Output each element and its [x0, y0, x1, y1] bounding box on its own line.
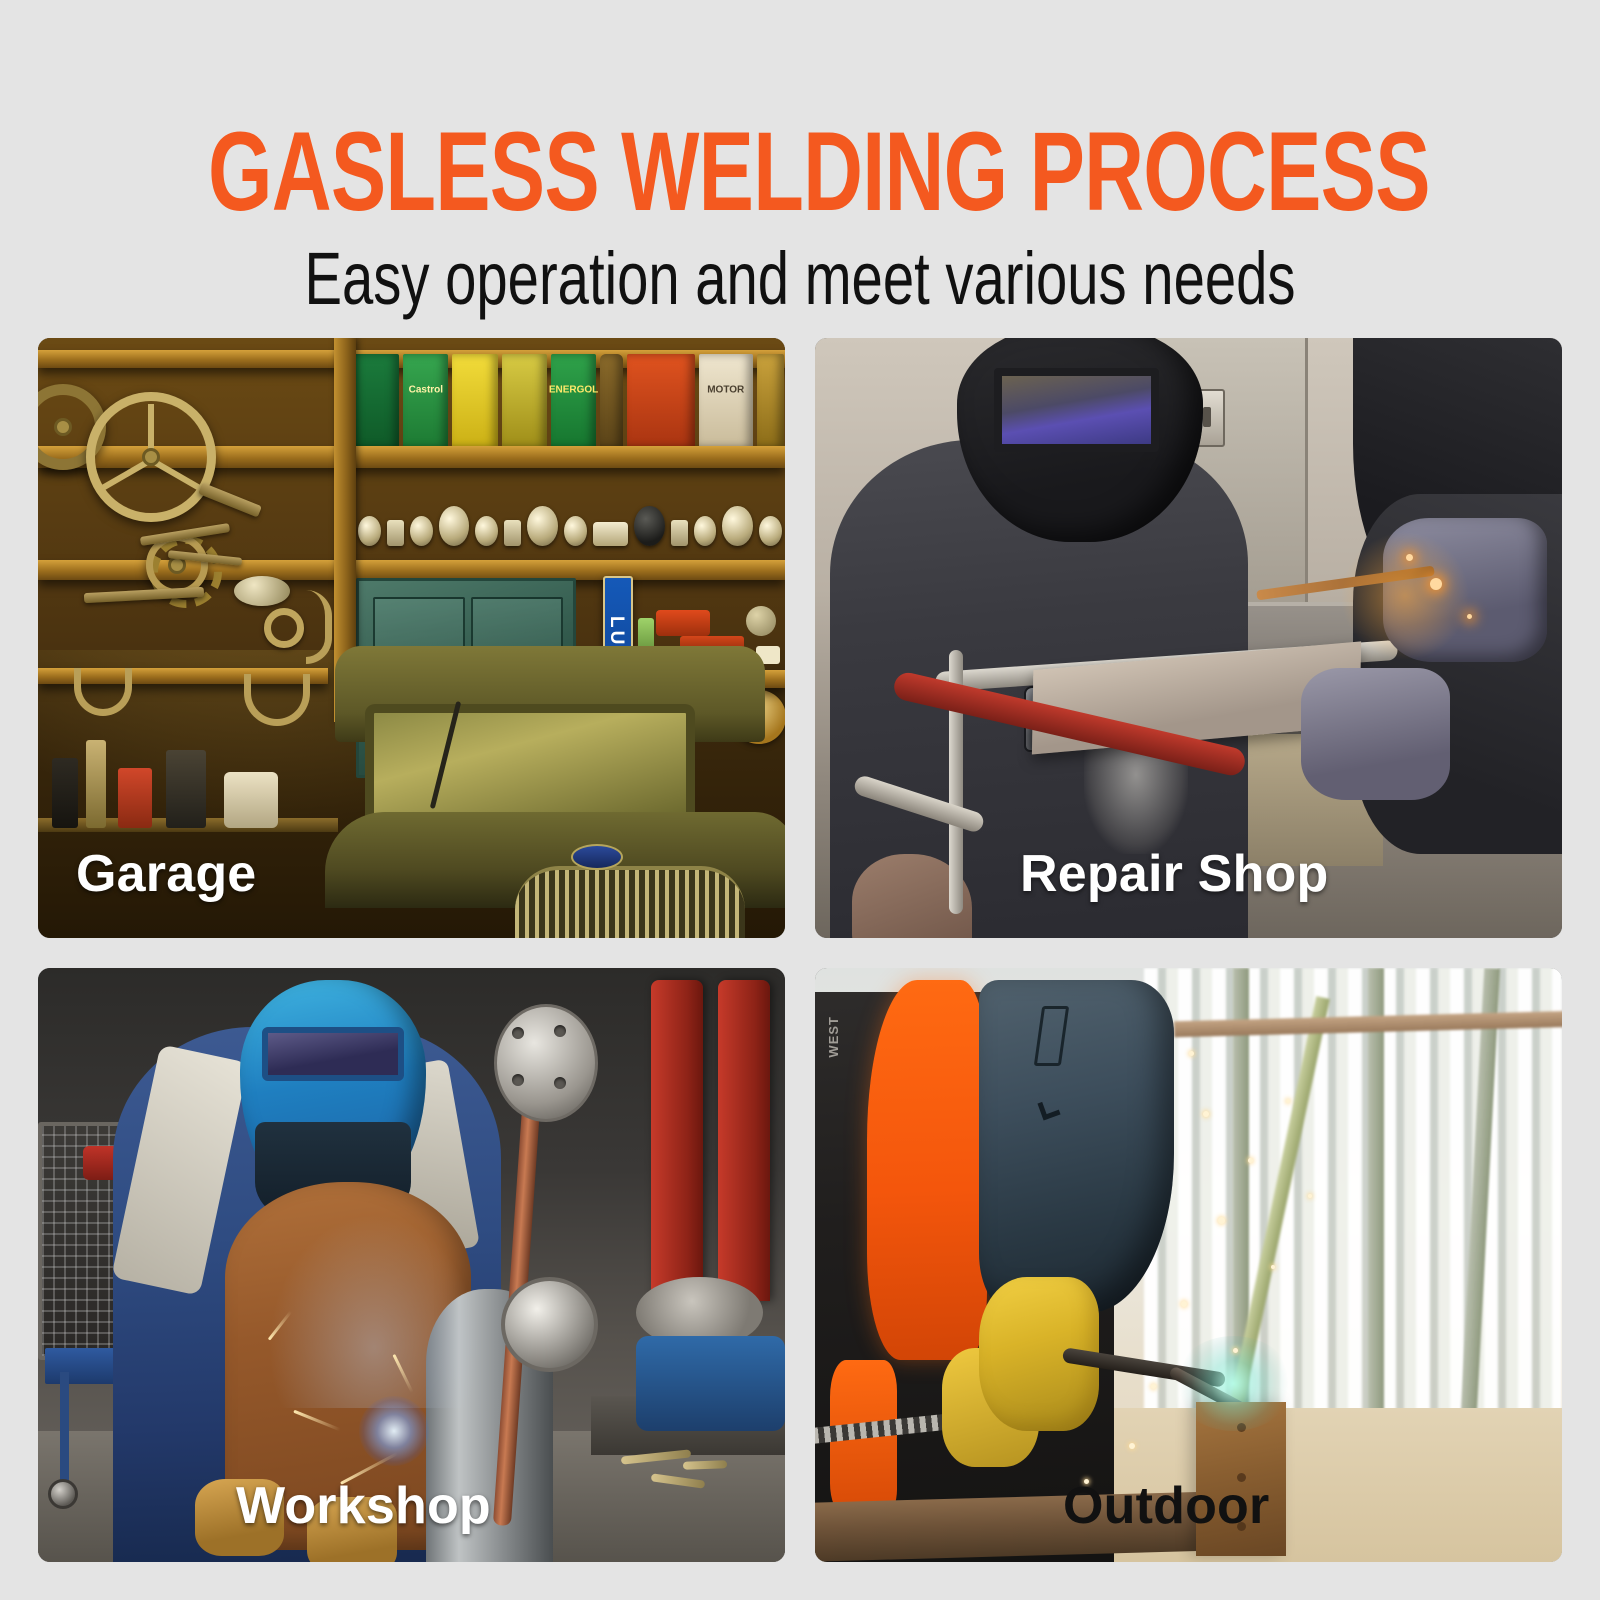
tool: [198, 482, 262, 517]
page-title: GASLESS WELDING PROCESS: [208, 118, 1392, 226]
oil-tin: [600, 354, 623, 448]
oil-tin: [354, 354, 399, 448]
spark: [1271, 1265, 1275, 1269]
helmet-visor: [262, 1027, 404, 1080]
oil-tin-row: Castrol ENERGOL MOTOR: [354, 354, 784, 448]
gauge: [439, 506, 470, 546]
clutter-item: [746, 606, 776, 636]
gas-bottle: [651, 980, 703, 1301]
gauge: [358, 516, 381, 546]
panel-repair-shop[interactable]: Repair Shop: [815, 338, 1562, 938]
gauge: [722, 506, 753, 546]
gauge: [387, 520, 404, 546]
rod: [650, 1473, 705, 1488]
oil-tin: [757, 354, 784, 448]
gauge-row: [358, 472, 782, 546]
tin-label: MOTOR: [707, 384, 744, 395]
panel-workshop[interactable]: Workshop: [38, 968, 785, 1562]
weld-smoke: [262, 1206, 486, 1408]
gauge: [759, 516, 782, 546]
panel-garage[interactable]: Castrol ENERGOL MOTOR: [38, 338, 785, 938]
gauge: [634, 506, 665, 546]
bench-item: [166, 750, 206, 828]
spark: [1406, 554, 1413, 561]
hanging-tools: [48, 458, 328, 688]
tool-ring: [264, 608, 304, 648]
hi-vis-vest: [867, 980, 987, 1360]
clutter-item: [656, 610, 710, 636]
spark: [1286, 1099, 1290, 1103]
pressure-regulator: [501, 1277, 598, 1372]
bench-item: [118, 768, 152, 828]
vintage-car: [325, 646, 785, 938]
panel-outdoor[interactable]: WEST: [815, 968, 1562, 1562]
spark: [1151, 1384, 1156, 1389]
spark: [1308, 1194, 1312, 1198]
oil-tin: [452, 354, 497, 448]
oil-tin: [502, 354, 547, 448]
angle-grinder: [636, 1336, 785, 1431]
arc-glow: [1338, 530, 1472, 662]
shield-plate: [1033, 1006, 1069, 1066]
gauge: [475, 516, 498, 546]
rod: [620, 1450, 690, 1465]
helmet-visor: [994, 368, 1158, 452]
tin-label: Castrol: [409, 384, 443, 395]
spark: [1181, 1301, 1187, 1307]
image-grid: Castrol ENERGOL MOTOR: [38, 338, 1562, 1562]
tin-label: ENERGOL: [549, 384, 598, 395]
gauge: [593, 522, 628, 546]
oil-tin: ENERGOL: [551, 354, 596, 448]
tool: [234, 576, 290, 606]
tool: [168, 550, 242, 566]
cart-leg: [60, 1372, 69, 1491]
header: GASLESS WELDING PROCESS Easy operation a…: [0, 118, 1600, 318]
bench-item: [52, 758, 78, 828]
oil-tin: MOTOR: [699, 354, 753, 448]
oil-tin: Castrol: [403, 354, 448, 448]
rod-pile: [621, 1443, 785, 1538]
gauge: [671, 520, 688, 546]
poster: GASLESS WELDING PROCESS Easy operation a…: [0, 0, 1600, 1600]
gas-bottle: [718, 980, 770, 1301]
workshop-scene: [38, 968, 785, 1562]
car-grille: [515, 866, 745, 938]
fence-post: [1368, 968, 1384, 1431]
car-badge: [571, 844, 623, 870]
gauge: [694, 516, 717, 546]
pipe-flange: [494, 1004, 599, 1123]
welding-glove: [1301, 668, 1450, 800]
welding-shield: [979, 980, 1173, 1313]
shield-marking: [1037, 1097, 1060, 1120]
outdoor-scene: WEST: [815, 968, 1562, 1562]
panel-label-repair-shop: Repair Shop: [1020, 846, 1328, 902]
tool: [140, 523, 230, 546]
page-subtitle: Easy operation and meet various needs: [192, 240, 1408, 318]
panel-label-garage: Garage: [76, 846, 256, 902]
oil-tin: [627, 354, 695, 448]
bench-item: [224, 772, 278, 828]
tool: [84, 587, 204, 603]
spark: [1189, 1051, 1194, 1056]
gauge: [564, 516, 587, 546]
gauge: [504, 520, 521, 546]
bench-item: [86, 740, 106, 828]
panel-label-workshop: Workshop: [236, 1478, 491, 1534]
gauge: [527, 506, 558, 546]
spark: [1129, 1443, 1135, 1449]
panel-label-outdoor: Outdoor: [1063, 1478, 1269, 1534]
car-windshield: [365, 704, 695, 822]
sleeve-text: WEST: [826, 1016, 841, 1058]
rod: [683, 1460, 727, 1470]
gauge: [410, 516, 433, 546]
